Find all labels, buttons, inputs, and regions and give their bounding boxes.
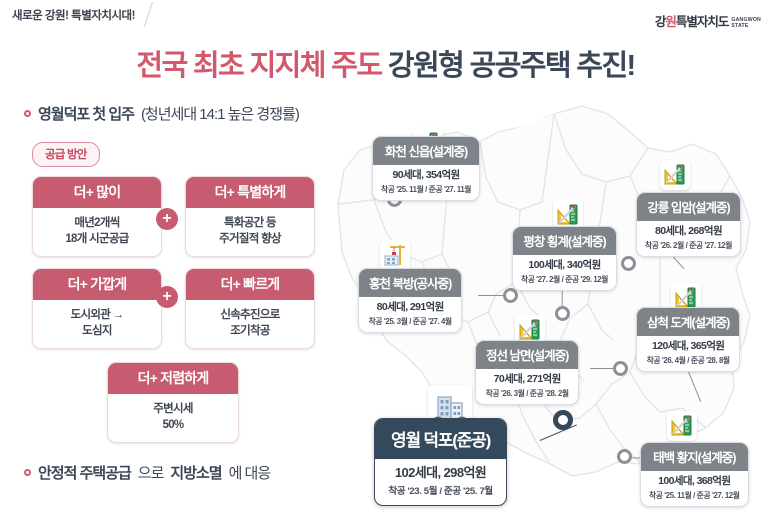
bullet-2-normal-a: 으로 <box>138 462 164 483</box>
supply-card-faster-body: 신속추진으로 조기착공 <box>186 300 314 348</box>
brand-english-text: GANGWON STATE <box>731 18 761 30</box>
gangwon-state-logo: 강원특별자치도 GANGWON STATE <box>655 11 761 30</box>
callout-units-cost: 120세대, 365억원 <box>645 340 731 354</box>
callout-title: 정선 남면(설계중) <box>476 341 578 369</box>
callout-body: 102세대, 298억원 착공 '23. 5월 / 준공 '25. 7월 <box>375 459 506 505</box>
top-bar: 새로운 강원! 특별자치시대! 강원특별자치도 GANGWON STATE <box>0 0 771 30</box>
callout-title: 영월 덕포(준공) <box>375 419 506 459</box>
supply-card-faster-line2: 조기착공 <box>188 323 312 339</box>
callout-schedule: 착공 '23. 5월 / 준공 '25. 7월 <box>387 483 494 497</box>
supply-card-faster[interactable]: 더+ 빠르게 신속추진으로 조기착공 <box>185 268 315 349</box>
callout-title: 화천 신읍(설계중) <box>373 137 479 165</box>
map-node-yeongwol[interactable] <box>553 410 573 430</box>
callout-hwacheon-sineup[interactable]: 화천 신읍(설계중) 90세대, 354억원 착공 '25. 11월 / 준공 … <box>372 136 480 201</box>
callout-title: 삼척 도계(설계중) <box>637 308 739 336</box>
supply-card-faster-title: 더+ 빠르게 <box>186 269 314 300</box>
supply-card-more-line2: 18개 시군공급 <box>35 231 159 247</box>
callout-body: 100세대, 340억원 착공 '27. 2월 / 준공 '29. 12월 <box>513 255 616 290</box>
ring-bullet-icon <box>24 110 31 117</box>
callout-body: 80세대, 291억원 착공 '25. 3월 / 준공 '27. 4월 <box>359 297 461 332</box>
plus-icon: + <box>156 208 178 230</box>
supply-card-more-body: 매년2개씩 18개 시군공급 <box>33 208 161 256</box>
callout-jeongseon-nammyeon[interactable]: 정선 남면(설계중) 70세대, 271억원 착공 '26. 3월 / 준공 '… <box>475 340 579 405</box>
callout-body: 100세대, 368억원 착공 '25. 11월 / 준공 '27. 12월 <box>641 471 748 506</box>
supply-card-closer-line2: 도심지 <box>35 323 159 339</box>
brand-ko-accent: 원 <box>665 15 676 29</box>
page-title-highlight: 전국 최초 지지체 주도 <box>136 50 381 82</box>
callout-title: 태백 황지(설계중) <box>641 443 748 471</box>
supply-card-closer-line1: 도시외관 → <box>35 307 159 323</box>
map-node-gangneung[interactable] <box>621 256 636 271</box>
bullet-stable-supply: 안정적 주택공급으로 지방소멸에 대응 <box>24 462 270 483</box>
callout-units-cost: 100세대, 340억원 <box>521 259 608 273</box>
brand-korean-text: 강원특별자치도 <box>655 11 729 30</box>
callout-body: 70세대, 271억원 착공 '26. 3월 / 준공 '28. 2월 <box>476 369 578 404</box>
supply-card-more-title: 더+ 많이 <box>33 177 161 208</box>
callout-units-cost: 80세대, 291억원 <box>367 301 453 315</box>
page-title: 전국 최초 지지체 주도 강원형 공공주택 추진! <box>0 42 771 84</box>
brand-en-line2: STATE <box>731 24 761 30</box>
construction-crane-icon <box>380 240 410 270</box>
brand-ko-prefix: 강 <box>655 15 666 29</box>
callout-title: 강릉 입암(설계중) <box>637 193 740 221</box>
supply-card-cheaper-title: 더+ 저렴하게 <box>108 363 238 394</box>
map-node-hongcheon[interactable] <box>503 288 518 303</box>
callout-body: 120세대, 365억원 착공 '26. 4월 / 준공 '28. 8월 <box>637 336 739 371</box>
supply-card-special[interactable]: 더+ 특별하게 특화공간 등 주거질적 향상 <box>185 176 315 257</box>
callout-units-cost: 90세대, 354억원 <box>381 169 471 183</box>
callout-pyeongchang-hoenggye[interactable]: 평창 횡계(설계중) 100세대, 340억원 착공 '27. 2월 / 준공 … <box>512 226 617 291</box>
brand-ko-suffix: 특별자치도 <box>676 15 729 29</box>
plus-icon: + <box>156 286 178 308</box>
supply-card-more[interactable]: 더+ 많이 매년2개씩 18개 시군공급 <box>32 176 162 257</box>
callout-schedule: 착공 '25. 11월 / 준공 '27. 12월 <box>649 490 740 501</box>
supply-card-special-line1: 특화공간 등 <box>188 215 312 231</box>
supply-card-cheaper-line2: 50% <box>110 417 236 433</box>
callout-schedule: 착공 '26. 4월 / 준공 '28. 8월 <box>645 355 731 366</box>
supply-card-more-line1: 매년2개씩 <box>35 215 159 231</box>
callout-title: 평창 횡계(설계중) <box>513 227 616 255</box>
supply-card-faster-line1: 신속추진으로 <box>188 307 312 323</box>
supply-plan-badge: 공급 방안 <box>32 142 100 167</box>
bullet-2-strong-a: 안정적 주택공급 <box>38 462 131 483</box>
callout-schedule: 착공 '26. 3월 / 준공 '28. 2월 <box>484 388 570 399</box>
slogan-divider <box>144 2 153 27</box>
map-node-taebaek[interactable] <box>617 449 632 464</box>
callout-units-cost: 100세대, 368억원 <box>649 475 740 489</box>
supply-card-closer[interactable]: 더+ 가깝게 도시외관 → 도심지 <box>32 268 162 349</box>
bullet-1-strong: 영월덕포 첫 입주 <box>38 103 134 124</box>
ruler-set-square-icon <box>660 160 690 190</box>
ruler-set-square-icon <box>667 411 697 441</box>
callout-units-cost: 70세대, 271억원 <box>484 373 570 387</box>
callout-schedule: 착공 '25. 11월 / 준공 '27. 11월 <box>381 184 471 195</box>
supply-card-cheaper-body: 주변시세 50% <box>108 394 238 442</box>
supply-card-closer-body: 도시외관 → 도심지 <box>33 300 161 348</box>
callout-body: 80세대, 268억원 착공 '26. 2월 / 준공 '27. 12월 <box>637 221 740 256</box>
ring-bullet-icon <box>24 469 31 476</box>
callout-units-cost: 102세대, 298억원 <box>387 465 494 482</box>
supply-card-closer-title: 더+ 가깝게 <box>33 269 161 300</box>
bullet-first-occupancy: 영월덕포 첫 입주(청년세대 14:1 높은 경쟁률) <box>24 103 299 124</box>
callout-schedule: 착공 '25. 3월 / 준공 '27. 4월 <box>367 316 453 327</box>
callout-samcheok-dogye[interactable]: 삼척 도계(설계중) 120세대, 365억원 착공 '26. 4월 / 준공 … <box>636 307 740 372</box>
bullet-2-normal-b: 에 대응 <box>229 462 271 483</box>
callout-gangneung-ipam[interactable]: 강릉 입암(설계중) 80세대, 268억원 착공 '26. 2월 / 준공 '… <box>636 192 741 257</box>
callout-schedule: 착공 '26. 2월 / 준공 '27. 12월 <box>645 240 732 251</box>
infographic-page: 새로운 강원! 특별자치시대! 강원특별자치도 GANGWON STATE 전국… <box>0 0 771 510</box>
callout-schedule: 착공 '27. 2월 / 준공 '29. 12월 <box>521 274 608 285</box>
callout-taebaek-hwangji[interactable]: 태백 황지(설계중) 100세대, 368억원 착공 '25. 11월 / 준공… <box>640 442 749 507</box>
slogan-text: 새로운 강원! 특별자치시대! <box>12 7 135 23</box>
supply-card-cheaper[interactable]: 더+ 저렴하게 주변시세 50% <box>107 362 239 443</box>
callout-hongcheon-bukbang[interactable]: 홍천 북방(공사중) 80세대, 291억원 착공 '25. 3월 / 준공 '… <box>358 268 462 333</box>
callout-body: 90세대, 354억원 착공 '25. 11월 / 준공 '27. 11월 <box>373 165 479 200</box>
callout-title: 홍천 북방(공사중) <box>359 269 461 297</box>
map-node-jeongseon[interactable] <box>613 361 628 376</box>
page-title-main: 강원형 공공주택 추진! <box>388 50 635 82</box>
supply-card-special-body: 특화공간 등 주거질적 향상 <box>186 208 314 256</box>
supply-card-special-line2: 주거질적 향상 <box>188 231 312 247</box>
map-node-pyeongchang[interactable] <box>555 306 570 321</box>
callout-yeongwol-deokpo[interactable]: 영월 덕포(준공) 102세대, 298억원 착공 '23. 5월 / 준공 '… <box>374 418 507 506</box>
bullet-2-strong-b: 지방소멸 <box>170 462 221 483</box>
callout-units-cost: 80세대, 268억원 <box>645 225 732 239</box>
supply-card-cheaper-line1: 주변시세 <box>110 401 236 417</box>
bullet-1-normal: (청년세대 14:1 높은 경쟁률) <box>141 103 299 124</box>
supply-card-special-title: 더+ 특별하게 <box>186 177 314 208</box>
